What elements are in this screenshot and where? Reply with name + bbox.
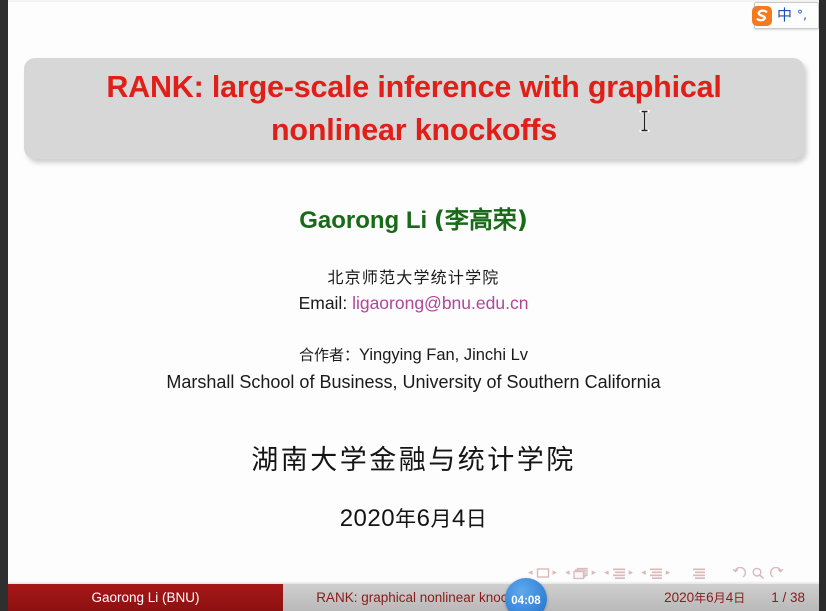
slide-title: RANK: large-scale inference with graphic…: [24, 66, 804, 150]
history-navigation[interactable]: [732, 567, 784, 580]
slide-prev-arrow-icon[interactable]: ◂: [528, 569, 533, 578]
collaborators-names: Yingying Fan, Jinchi Lv: [359, 346, 528, 364]
ime-mode-label[interactable]: 中: [777, 5, 792, 25]
footer-date-month: 6: [706, 590, 714, 605]
author-name-latin: Gaorong Li: [299, 207, 427, 234]
frame-navigation[interactable]: ◂ ▸: [565, 567, 596, 580]
section-icon[interactable]: [649, 567, 663, 580]
window-frame-right-edge: [819, 0, 826, 611]
email-address[interactable]: ligaorong@bnu.edu.cn: [352, 293, 528, 313]
window-frame-left-edge: [0, 0, 8, 611]
section-prev-arrow-icon[interactable]: ◂: [641, 569, 646, 578]
section-navigation[interactable]: ◂ ▸: [641, 567, 670, 580]
presentation-date: 2020年6月4日: [8, 503, 819, 533]
ime-indicator[interactable]: 中 °‚: [754, 2, 819, 29]
date-month-suffix: 月: [430, 507, 452, 531]
subsection-icon[interactable]: [612, 567, 626, 580]
frame-icon[interactable]: [573, 567, 589, 580]
slide-icon[interactable]: [536, 567, 550, 579]
back-arrow-icon[interactable]: [732, 567, 746, 580]
email-line: Email: ligaorong@bnu.edu.cn: [8, 293, 819, 314]
footer-date-day-suffix: 日: [733, 591, 745, 605]
footer-date-year-suffix: 年: [694, 591, 706, 605]
venue-name: 湖南大学金融与统计学院: [8, 438, 819, 477]
author-affiliation: 北京师范大学统计学院: [8, 264, 819, 288]
search-icon[interactable]: [751, 567, 765, 580]
footer-date-year: 2020: [664, 590, 694, 605]
forward-arrow-icon[interactable]: [770, 567, 784, 580]
footer-meta: 2020年6月4日 1 / 38: [569, 584, 819, 611]
footer-date-month-suffix: 月: [714, 591, 726, 605]
footer-page-indicator: 1 / 38: [771, 590, 805, 605]
subsection-next-arrow-icon[interactable]: ▸: [629, 569, 634, 578]
presentation-icon[interactable]: [692, 567, 706, 580]
slide-canvas[interactable]: RANK: large-scale inference with graphic…: [8, 0, 819, 611]
collaborators-affiliation: Marshall School of Business, University …: [8, 372, 819, 393]
author-name: Gaorong Li (李高荣): [8, 200, 819, 235]
mouse-cursor-ibeam: [639, 110, 650, 132]
slide-title-box: RANK: large-scale inference with graphic…: [24, 58, 804, 159]
slide-footer: Gaorong Li (BNU) RANK: graphical nonline…: [8, 584, 819, 611]
section-next-arrow-icon[interactable]: ▸: [666, 569, 671, 578]
footer-date: 2020年6月4日: [664, 589, 745, 606]
date-day: 4: [452, 505, 466, 532]
date-year-suffix: 年: [395, 507, 417, 531]
subsection-prev-arrow-icon[interactable]: ◂: [604, 569, 609, 578]
email-label: Email:: [299, 293, 348, 313]
subsection-navigation[interactable]: ◂ ▸: [604, 567, 633, 580]
date-year: 2020: [340, 505, 395, 532]
frame-prev-arrow-icon[interactable]: ◂: [565, 569, 570, 578]
date-day-suffix: 日: [466, 507, 488, 531]
presentation-navigation[interactable]: [692, 567, 706, 580]
slide-next-arrow-icon[interactable]: ▸: [553, 569, 558, 578]
ime-punctuation-toggle[interactable]: °‚: [797, 5, 807, 25]
author-name-cjk: (李高荣): [434, 206, 528, 234]
frame-next-arrow-icon[interactable]: ▸: [592, 569, 597, 578]
collaborators-line: 合作者：Yingying Fan, Jinchi Lv: [8, 344, 819, 365]
footer-author: Gaorong Li (BNU): [8, 584, 283, 611]
beamer-navigation-bar[interactable]: ◂ ▸ ◂ ▸ ◂: [528, 562, 818, 584]
slide-navigation[interactable]: ◂ ▸: [528, 567, 557, 579]
collaborators-label: 合作者：: [299, 346, 359, 364]
sogou-s-logo-icon[interactable]: [749, 3, 774, 28]
presentation-window: RANK: large-scale inference with graphic…: [0, 0, 826, 611]
date-month: 6: [417, 505, 431, 532]
